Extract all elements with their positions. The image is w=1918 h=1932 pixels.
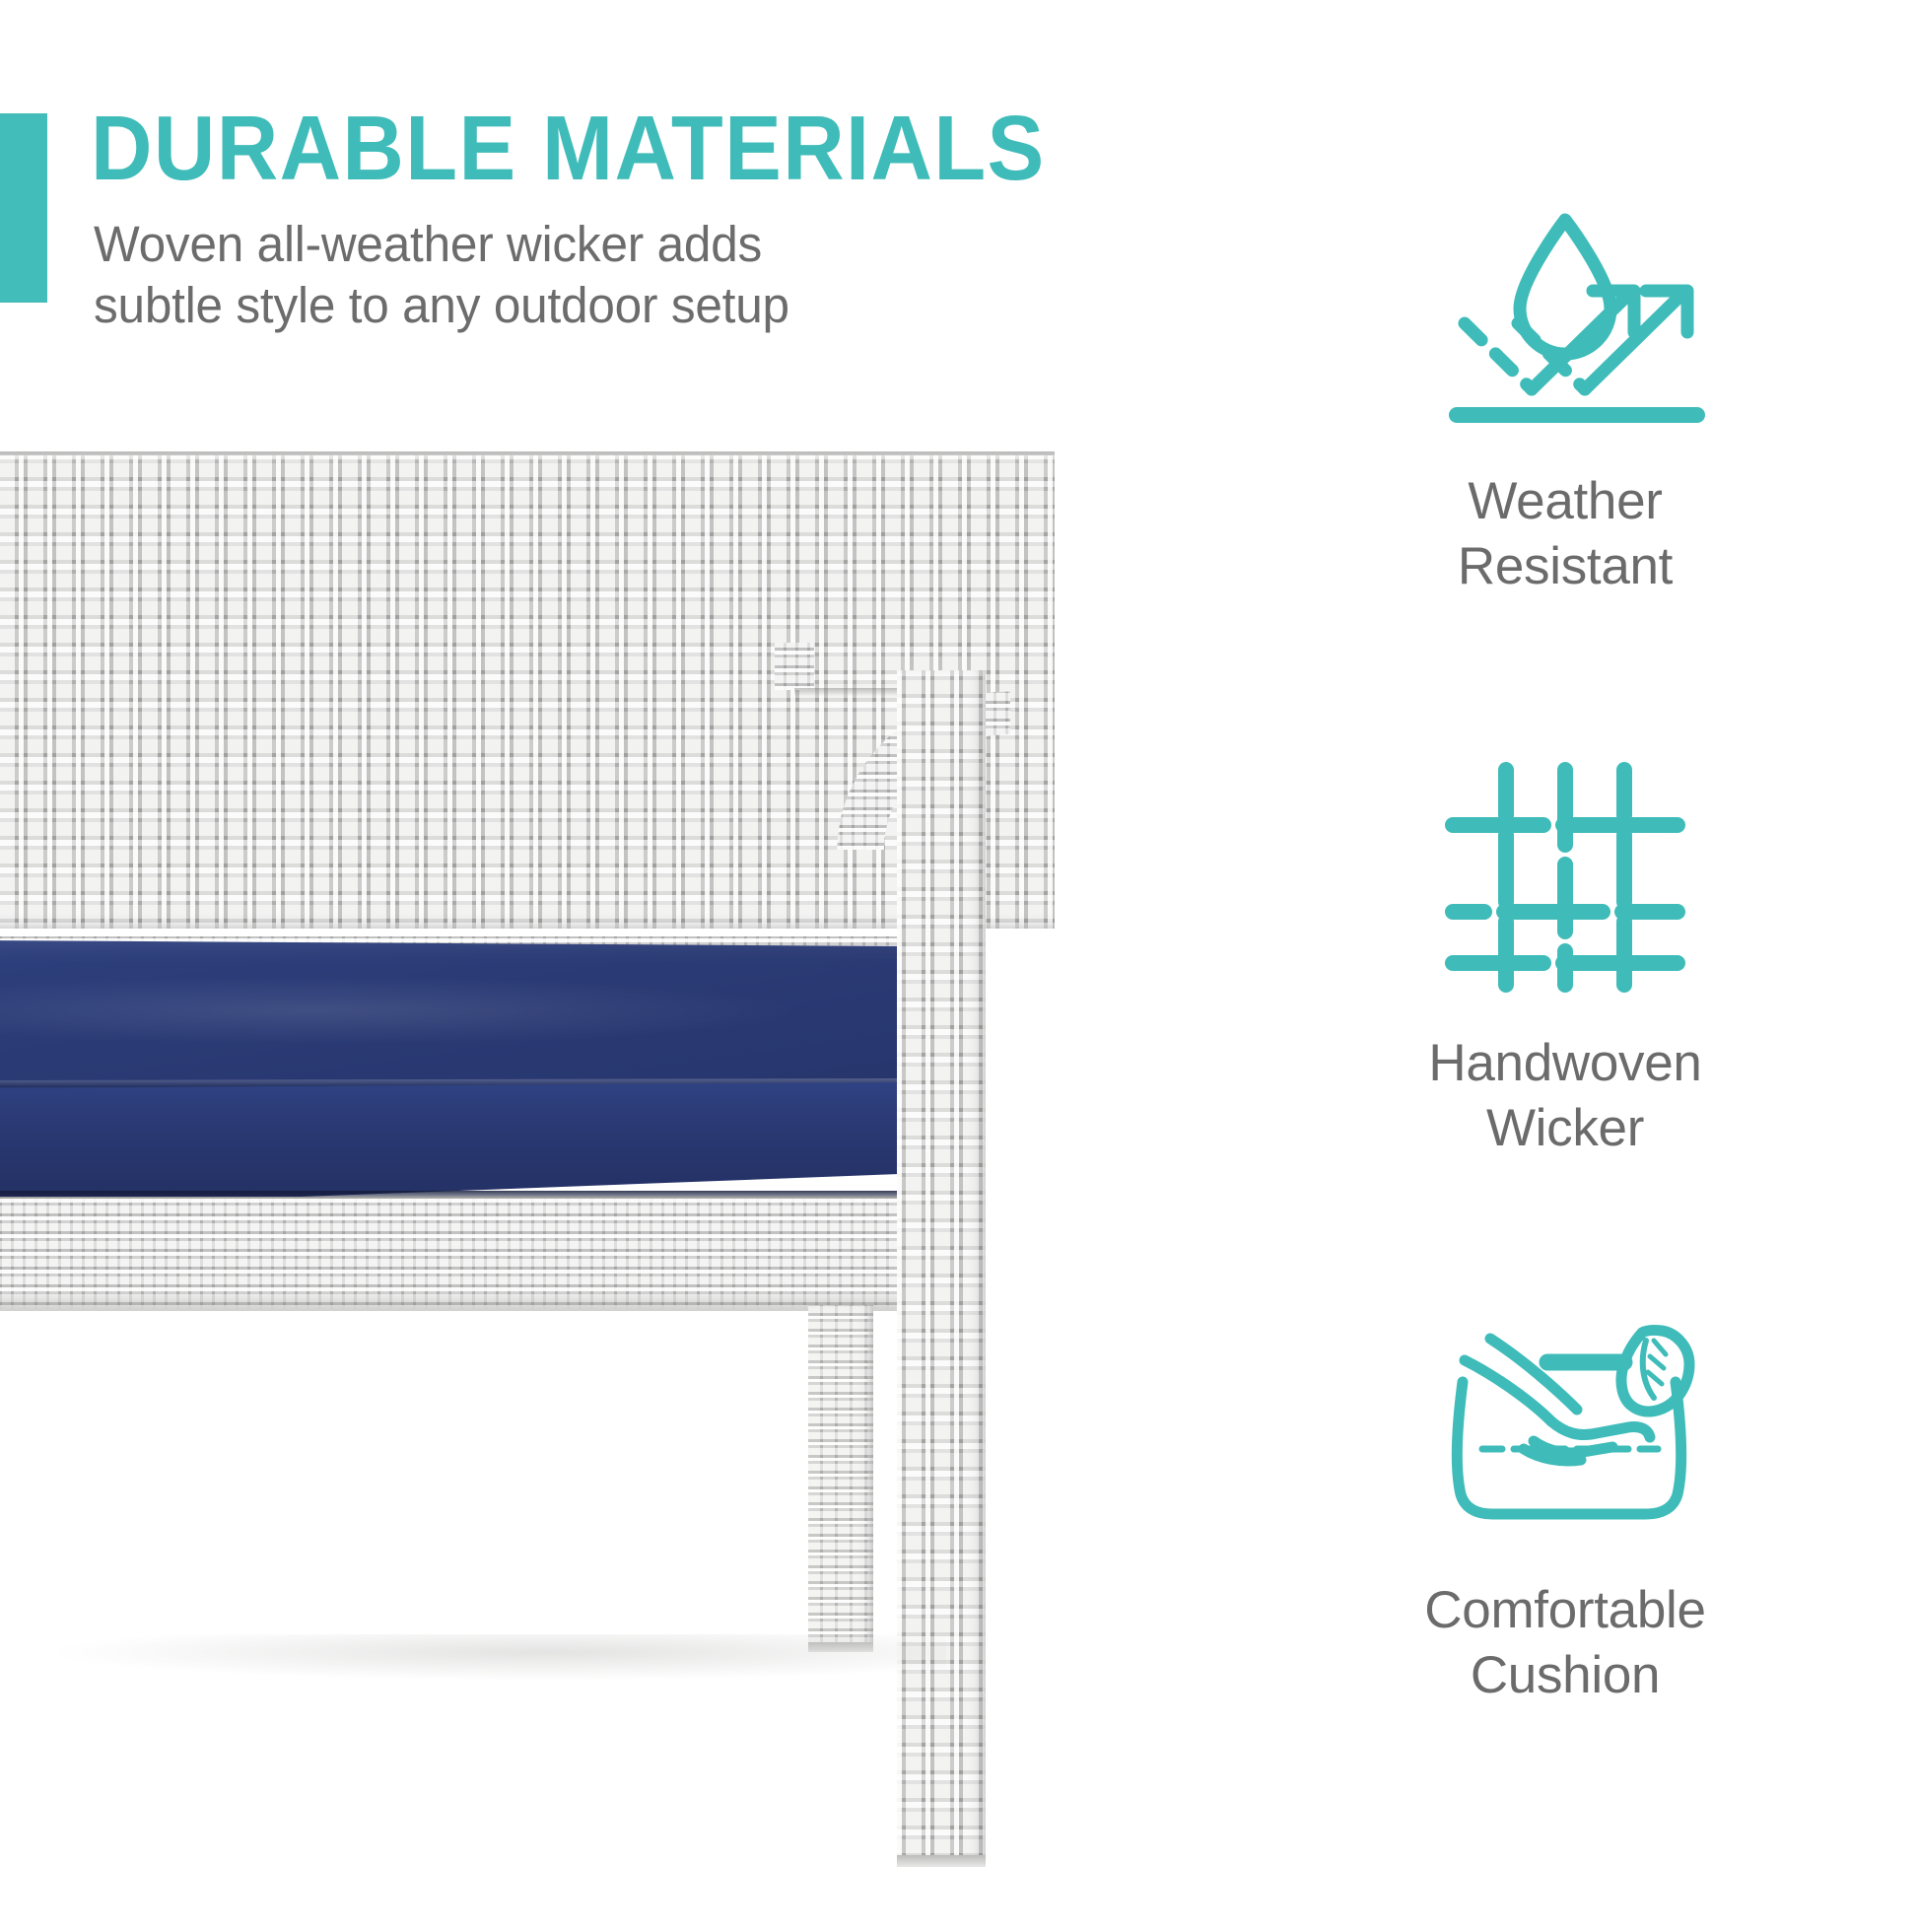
feature-item-handwoven-wicker: Handwoven Wicker bbox=[1212, 749, 1918, 1161]
wicker-front-leg bbox=[808, 1305, 873, 1650]
feature-item-comfortable-cushion: Comfortable Cushion bbox=[1212, 1296, 1918, 1708]
accent-bar bbox=[0, 113, 47, 303]
feature-label-weather-resistant: Weather Resistant bbox=[1212, 469, 1918, 599]
woven-basket-weave-icon bbox=[1212, 749, 1918, 1005]
feature-label-comfortable-cushion: Comfortable Cushion bbox=[1212, 1578, 1918, 1708]
water-droplet-repel-icon bbox=[1212, 187, 1918, 444]
page-subtitle: Woven all-weather wicker adds subtle sty… bbox=[94, 214, 789, 336]
hand-pressing-cushion-feather-icon bbox=[1212, 1296, 1918, 1552]
armrest-under-shadow bbox=[794, 688, 913, 696]
product-photo-wicker-loveseat bbox=[0, 424, 1222, 1932]
armrest-left-stub bbox=[775, 643, 814, 690]
wicker-arm-support-post bbox=[897, 670, 986, 1863]
floor-shadow bbox=[59, 1634, 946, 1680]
page-title: DURABLE MATERIALS bbox=[91, 99, 1046, 197]
cushion-highlight bbox=[0, 976, 808, 1045]
arm-post-foot bbox=[897, 1855, 986, 1867]
feature-list: Weather Resistant Handwoven Wicker bbox=[1212, 148, 1918, 1804]
feature-item-weather-resistant: Weather Resistant bbox=[1212, 187, 1918, 599]
feature-label-handwoven-wicker: Handwoven Wicker bbox=[1212, 1031, 1918, 1161]
cushion-front-face bbox=[0, 1082, 926, 1208]
header-block: DURABLE MATERIALS Woven all-weather wick… bbox=[0, 99, 1281, 325]
